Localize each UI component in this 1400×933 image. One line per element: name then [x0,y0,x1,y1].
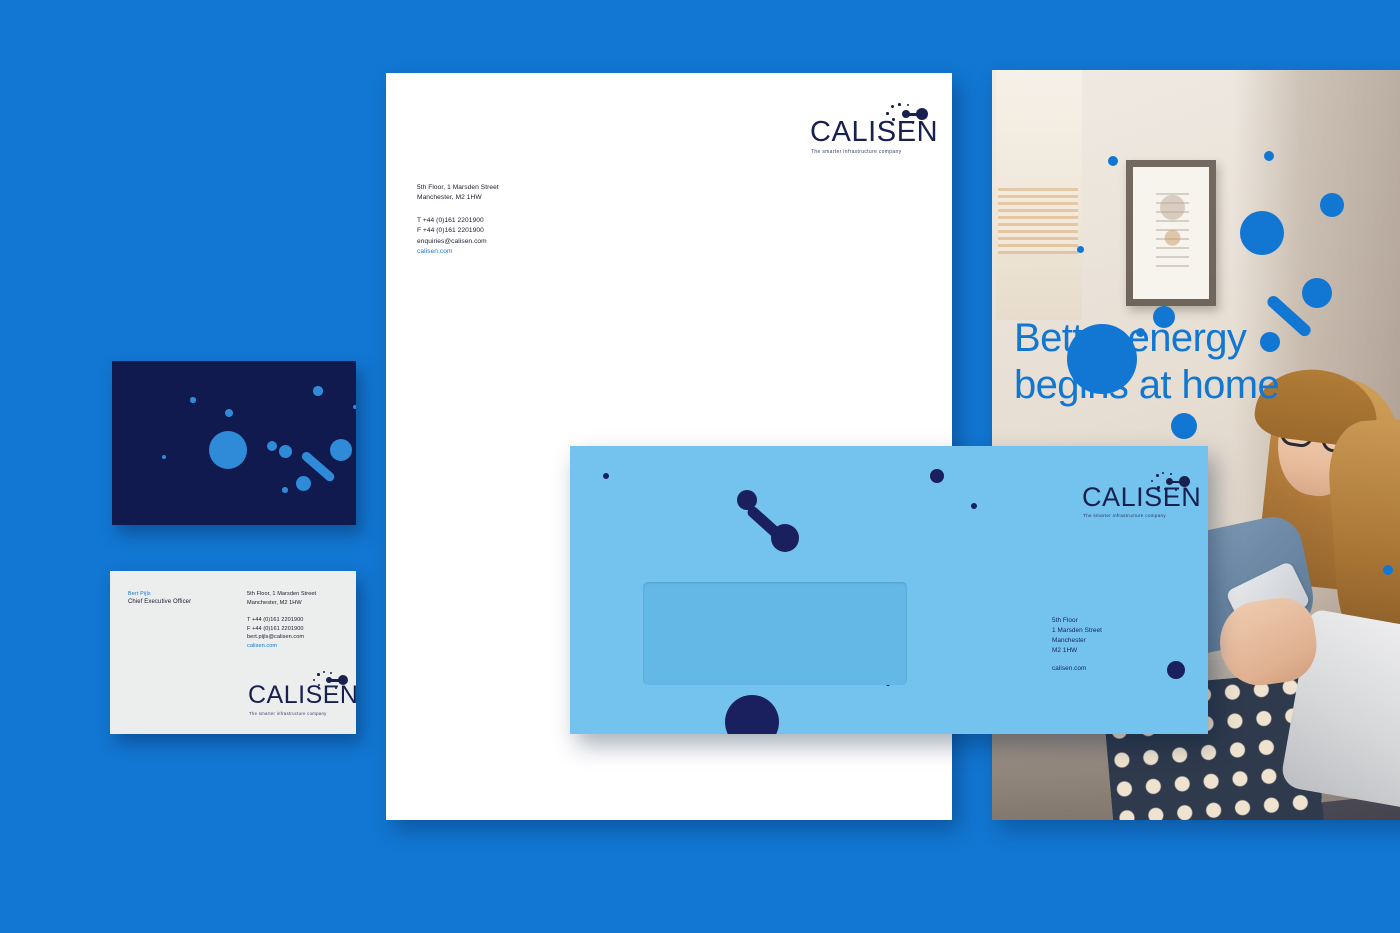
logo-dot [891,105,894,108]
pattern-dot [725,695,779,734]
envelope-website[interactable]: calisen.com [1052,664,1086,674]
address-line: Manchester, M2 1HW [247,599,316,608]
pattern-dot [1167,661,1185,679]
business-card-contact: T +44 (0)161 2201900 F +44 (0)161 220190… [247,616,304,650]
contact-line: T +44 (0)161 2201900 [247,616,304,625]
envelope[interactable]: CALISEN The smarter infrastructure compa… [570,446,1208,734]
comet-shape [296,439,352,491]
address-line: 5th Floor, 1 Marsden Street [247,590,316,599]
calisen-logo: CALISEN The smarter infrastructure compa… [1082,472,1190,522]
pattern-dot [313,386,322,395]
contact-line: T +44 (0)161 2201900 [417,216,487,226]
address-line: M2 1HW [1052,646,1102,656]
logo-dot [1156,474,1159,477]
pattern-dot [1320,193,1344,217]
logo-dot [907,104,909,106]
contact-website[interactable]: calisen.com [417,247,487,257]
brochure-headline: Better energy begins at home [1014,315,1279,409]
pattern-dot [1077,246,1084,253]
logo-dot [886,112,889,115]
comet-shape [737,490,799,552]
pattern-dot [1240,211,1284,255]
pattern-dot [1264,151,1274,161]
pattern-dot [930,469,944,483]
picture-frame-mat [1133,167,1209,299]
business-card-address: 5th Floor, 1 Marsden Street Manchester, … [247,590,316,607]
envelope-address-window [643,582,907,685]
calisen-wordmark: CALISEN [810,118,938,147]
pattern-dot [282,487,288,493]
pattern-dot [1171,413,1197,439]
pattern-dot [162,455,166,459]
address-line: Manchester, M2 1HW [417,193,499,203]
calisen-tagline: The smarter infrastructure company [249,712,327,716]
pattern-dot [209,431,247,469]
patterned-blind [998,188,1078,254]
business-card-job-title: Chief Executive Officer [128,598,191,607]
calisen-logo: CALISEN The smarter infrastructure compa… [248,671,348,719]
logo-dot [898,103,901,106]
letterhead-address: 5th Floor, 1 Marsden Street Manchester, … [417,183,499,204]
pattern-dot [971,503,977,509]
headline-line-1: Better energy [1014,315,1279,362]
letterhead-contact: T +44 (0)161 2201900 F +44 (0)161 220190… [417,216,487,258]
pattern-dot [267,441,277,451]
logo-dot [330,672,332,674]
calisen-tagline: The smarter infrastructure company [811,150,901,155]
navy-pattern-card[interactable] [112,361,356,525]
contact-email: bert.pijls@calisen.com [247,633,304,642]
calisen-wordmark: CALISEN [1082,484,1201,511]
contact-email: enquiries@calisen.com [417,237,487,247]
calisen-tagline: The smarter infrastructure company [1083,514,1166,519]
envelope-address: 5th Floor 1 Marsden Street Manchester M2… [1052,616,1102,656]
pattern-dot [603,473,610,480]
business-card-person-name: Bert Pijls [128,590,151,598]
picture-frame [1126,160,1216,306]
contact-line: F +44 (0)161 2201900 [417,226,487,236]
framed-artwork [1156,193,1189,272]
business-card[interactable]: Bert Pijls Chief Executive Officer 5th F… [110,571,356,734]
mockup-canvas: Bert Pijls Chief Executive Officer 5th F… [0,0,1400,933]
address-line: Manchester [1052,636,1102,646]
pattern-dot [1383,565,1393,575]
pattern-dot [279,445,292,458]
logo-dot [1170,473,1172,475]
calisen-wordmark: CALISEN [248,683,356,708]
logo-dot [317,673,320,676]
address-line: 5th Floor [1052,616,1102,626]
calisen-logo: CALISEN The smarter infrastructure compa… [810,103,928,158]
pattern-dot [190,397,195,402]
address-line: 5th Floor, 1 Marsden Street [417,183,499,193]
logo-dot [323,671,325,673]
logo-dot [1162,472,1164,474]
contact-website[interactable]: calisen.com [247,642,304,651]
headline-line-2: begins at home [1014,362,1279,409]
address-line: 1 Marsden Street [1052,626,1102,636]
pattern-dot [353,405,356,409]
contact-line: F +44 (0)161 2201900 [247,625,304,634]
pattern-dot [225,409,233,417]
pattern-dot [1108,156,1118,166]
